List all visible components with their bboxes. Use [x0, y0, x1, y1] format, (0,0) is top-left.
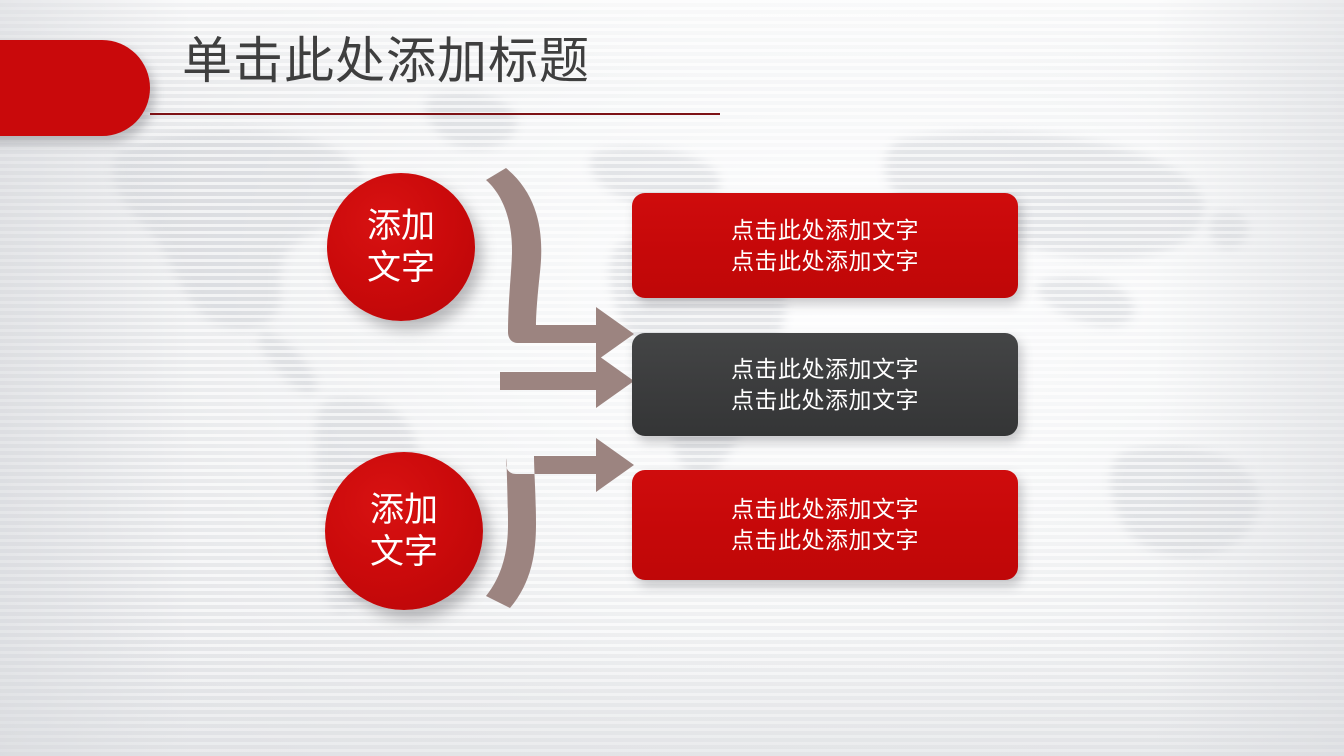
- box-middle[interactable]: 点击此处添加文字 点击此处添加文字: [632, 333, 1018, 436]
- title-underline: [150, 113, 720, 115]
- circle-top[interactable]: 添加 文字: [327, 173, 475, 321]
- box-top[interactable]: 点击此处添加文字 点击此处添加文字: [632, 193, 1018, 298]
- box-middle-line2: 点击此处添加文字: [731, 385, 919, 416]
- circle-top-line2: 文字: [367, 247, 435, 289]
- slide-canvas: 单击此处添加标题 添加 文字 添加 文字 点击此处添加文字 点击此处添加文字: [0, 0, 1344, 756]
- header-accent-tab: [0, 40, 150, 136]
- box-top-line1: 点击此处添加文字: [731, 215, 919, 246]
- page-title: 单击此处添加标题: [182, 36, 590, 86]
- circle-top-line1: 添加: [367, 205, 435, 247]
- box-bottom-line1: 点击此处添加文字: [731, 494, 919, 525]
- circle-bottom-line1: 添加: [370, 489, 438, 531]
- box-top-line2: 点击此处添加文字: [731, 246, 919, 277]
- box-middle-line1: 点击此处添加文字: [731, 354, 919, 385]
- box-bottom[interactable]: 点击此处添加文字 点击此处添加文字: [632, 470, 1018, 580]
- circle-bottom[interactable]: 添加 文字: [325, 452, 483, 610]
- box-bottom-line2: 点击此处添加文字: [731, 525, 919, 556]
- circle-bottom-line2: 文字: [370, 531, 438, 573]
